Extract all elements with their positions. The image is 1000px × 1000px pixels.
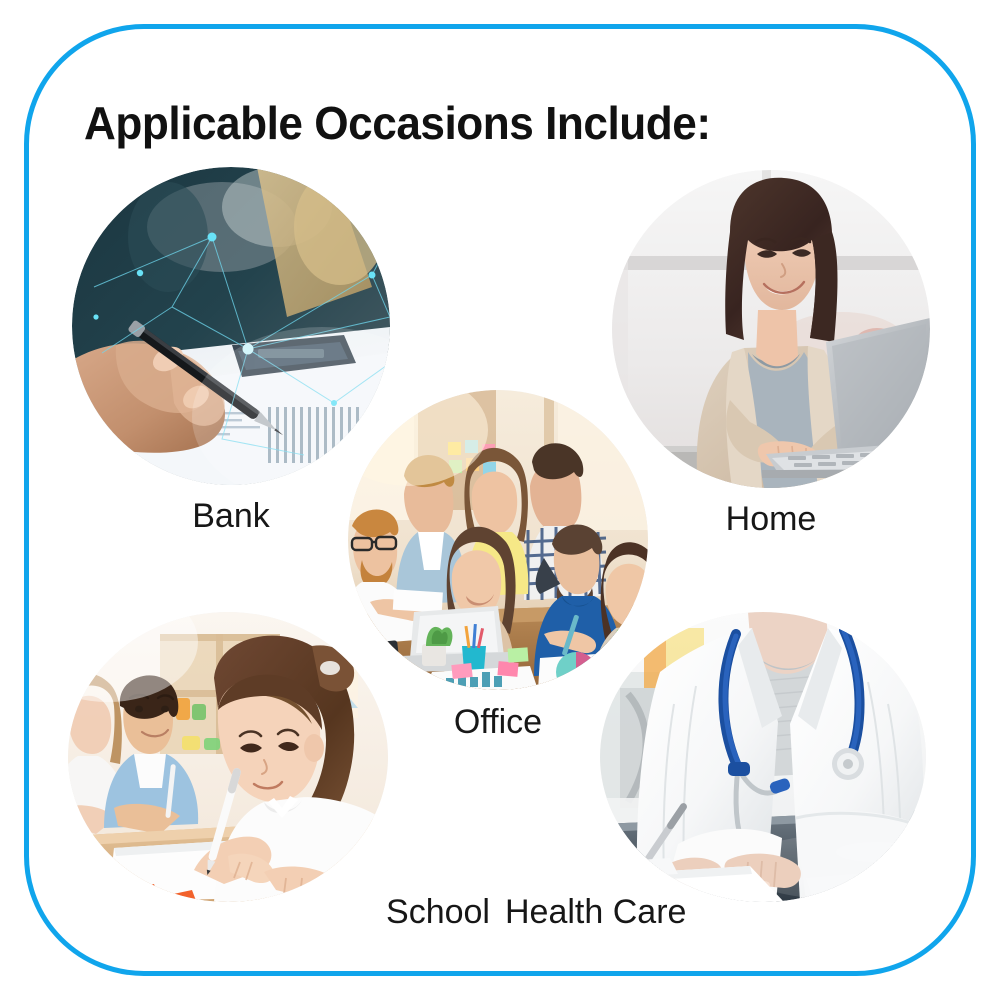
occasion-image-school xyxy=(68,612,388,902)
occasion-image-office xyxy=(348,390,648,690)
occasion-image-bank xyxy=(72,167,390,485)
occasion-label-home: Home xyxy=(602,502,940,536)
poster-canvas: Applicable Occasions Include: xyxy=(0,0,1000,1000)
occasion-image-home xyxy=(612,170,930,488)
page-title: Applicable Occasions Include: xyxy=(84,96,711,150)
occasion-label-health: Health Care xyxy=(505,893,725,932)
occasion-image-health xyxy=(600,612,926,902)
